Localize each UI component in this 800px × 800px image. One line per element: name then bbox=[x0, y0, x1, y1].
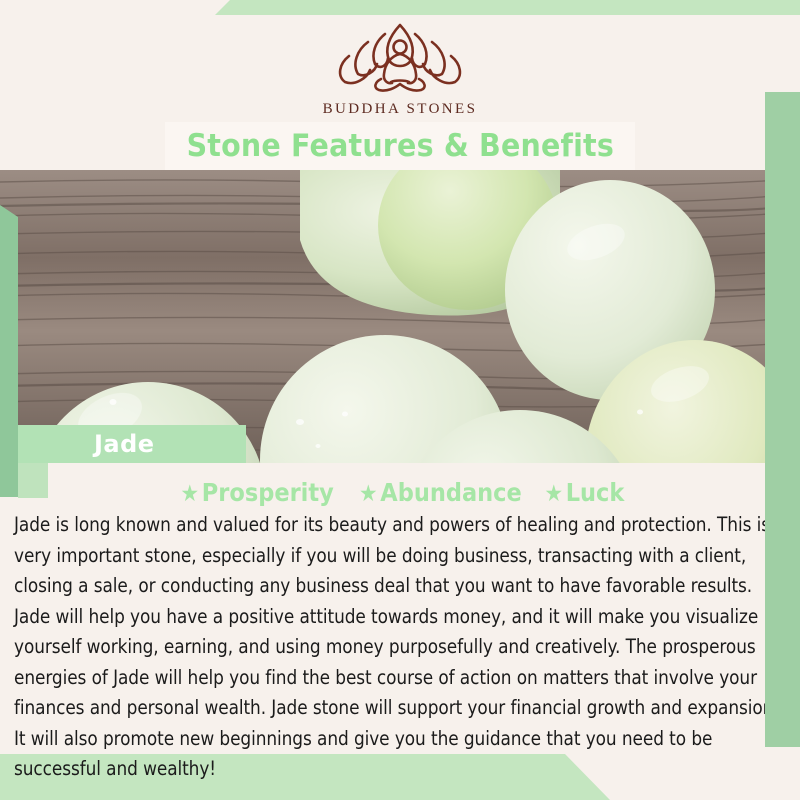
stone-name-label: Jade bbox=[18, 425, 246, 463]
star-icon: ★ bbox=[359, 481, 378, 507]
benefit-item-0: ★Prosperity bbox=[180, 478, 333, 507]
benefit-label-0: Prosperity bbox=[201, 478, 333, 507]
page-title: Stone Features & Benefits bbox=[186, 128, 613, 164]
stone-info-card: BUDDHA STONES Stone Features & Benefits bbox=[0, 0, 800, 800]
stone-photo-image bbox=[0, 170, 800, 463]
lotus-meditation-icon bbox=[325, 20, 475, 95]
star-icon: ★ bbox=[544, 481, 563, 507]
description-text: Jade is long known and valued for its be… bbox=[14, 510, 789, 785]
accent-bar-right bbox=[765, 92, 800, 747]
stone-name-text: Jade bbox=[18, 430, 155, 458]
star-icon: ★ bbox=[180, 481, 199, 507]
benefit-item-2: ★Luck bbox=[544, 478, 624, 507]
benefit-label-2: Luck bbox=[565, 478, 624, 507]
description-block: Jade is long known and valued for its be… bbox=[14, 510, 789, 785]
accent-bar-left bbox=[0, 205, 18, 497]
title-banner: Stone Features & Benefits bbox=[165, 122, 635, 170]
brand-name: BUDDHA STONES bbox=[0, 101, 800, 118]
benefits-row: ★Prosperity ★Abundance ★Luck bbox=[0, 478, 800, 507]
benefit-label-1: Abundance bbox=[381, 478, 522, 507]
accent-bar-top bbox=[215, 0, 800, 15]
benefit-item-1: ★Abundance bbox=[359, 478, 522, 507]
brand-logo: BUDDHA STONES bbox=[0, 20, 800, 118]
accent-bar-left-pale bbox=[18, 462, 48, 498]
stone-photo bbox=[0, 170, 800, 463]
